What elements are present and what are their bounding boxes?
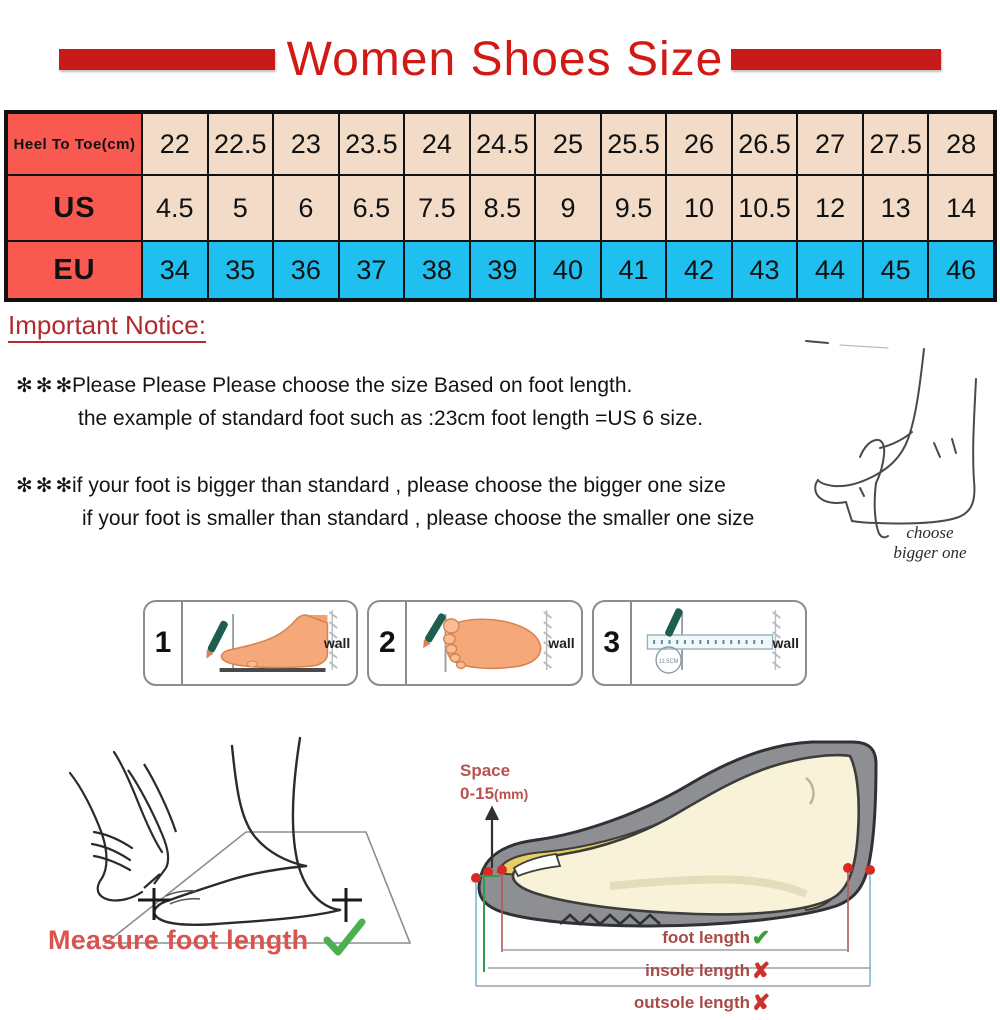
legend-row-foot-length: foot length✔ (612, 922, 772, 955)
cell-us-5: 8.5 (470, 175, 536, 241)
cell-cm-12: 28 (928, 113, 994, 175)
green-check-icon (322, 918, 366, 967)
cell-cm-1: 22.5 (208, 113, 274, 175)
space-label-line1: Space (460, 761, 510, 780)
choose-caption-line1: choose (906, 523, 953, 542)
cell-us-8: 10 (666, 175, 732, 241)
choose-caption-line2: bigger one (893, 543, 966, 562)
cell-eu-5: 39 (470, 241, 536, 299)
cell-eu-0: 34 (142, 241, 208, 299)
cell-us-3: 6.5 (339, 175, 405, 241)
shoe-measurement-legend: foot length✔ insole length✘ outsole leng… (612, 922, 772, 1020)
page-title-row: Women Shoes Size (0, 28, 1000, 90)
cell-us-6: 9 (535, 175, 601, 241)
cell-us-11: 13 (863, 175, 929, 241)
cell-cm-7: 25.5 (601, 113, 667, 175)
cell-cm-0: 22 (142, 113, 208, 175)
step-number-3: 3 (594, 602, 632, 684)
step-panel-2: 2 (367, 600, 582, 686)
cell-cm-2: 23 (273, 113, 339, 175)
cell-eu-10: 44 (797, 241, 863, 299)
check-icon-foot-length: ✔ (750, 922, 772, 955)
cross-icon-insole-length: ✘ (750, 955, 772, 988)
cell-cm-10: 27 (797, 113, 863, 175)
measurement-steps: 1 (143, 600, 807, 686)
cell-eu-9: 43 (732, 241, 798, 299)
cell-cm-8: 26 (666, 113, 732, 175)
step-1-wall-label: wall (324, 635, 350, 651)
cell-eu-3: 37 (339, 241, 405, 299)
row-label-us: US (7, 175, 142, 241)
title-decoration-bar-left (59, 49, 275, 70)
cell-eu-2: 36 (273, 241, 339, 299)
step-1-illustration: wall (183, 602, 356, 684)
step-number-1: 1 (145, 602, 183, 684)
bullet-stars-icon-2: ✻✻✻ (16, 471, 72, 502)
table-row-cm: Heel To Toe(cm) 22 22.5 23 23.5 24 24.5 … (7, 113, 994, 175)
cell-us-2: 6 (273, 175, 339, 241)
shoe-size-chart-page: Women Shoes Size Heel To Toe(cm) 22 22.5… (0, 0, 1000, 1000)
notice-2-line-2: if your foot is smaller than standard , … (16, 503, 754, 536)
cell-eu-8: 42 (666, 241, 732, 299)
legend-label-foot-length: foot length (662, 928, 750, 947)
cross-icon-outsole-length: ✘ (750, 987, 772, 1020)
row-label-heel-to-toe: Heel To Toe(cm) (7, 113, 142, 175)
cell-cm-4: 24 (404, 113, 470, 175)
step-number-2: 2 (369, 602, 407, 684)
step-3-illustration: 11.5CM wall (632, 602, 805, 684)
legend-row-outsole-length: outsole length✘ (612, 987, 772, 1020)
cell-cm-3: 23.5 (339, 113, 405, 175)
cell-cm-9: 26.5 (732, 113, 798, 175)
notice-2-line-1: if your foot is bigger than standard , p… (72, 474, 726, 497)
notice-1-line-2: the example of standard foot such as :23… (16, 403, 703, 436)
important-notice-heading: Important Notice: (8, 312, 206, 343)
notice-1-line-1: Please Please Please choose the size Bas… (72, 374, 632, 397)
size-conversion-table: Heel To Toe(cm) 22 22.5 23 23.5 24 24.5 … (4, 110, 997, 302)
cell-us-7: 9.5 (601, 175, 667, 241)
title-decoration-bar-right (731, 49, 941, 70)
space-label-line2: 0-15 (460, 784, 494, 803)
cell-us-1: 5 (208, 175, 274, 241)
step-panel-3: 3 (592, 600, 807, 686)
table-row-us: US 4.5 5 6 6.5 7.5 8.5 9 9.5 10 10.5 12 … (7, 175, 994, 241)
notice-block-2: ✻✻✻if your foot is bigger than standard … (16, 470, 754, 535)
step-panel-1: 1 (143, 600, 358, 686)
legend-label-outsole-length: outsole length (634, 993, 750, 1012)
cell-cm-11: 27.5 (863, 113, 929, 175)
table-row-eu: EU 34 35 36 37 38 39 40 41 42 43 44 45 4… (7, 241, 994, 299)
space-unit: (mm) (494, 786, 528, 802)
cell-eu-1: 35 (208, 241, 274, 299)
step-2-illustration: wall (407, 602, 580, 684)
measure-foot-length-caption: Measure foot length (48, 925, 308, 956)
legend-row-insole-length: insole length✘ (612, 955, 772, 988)
cell-cm-6: 25 (535, 113, 601, 175)
cell-cm-5: 24.5 (470, 113, 536, 175)
cell-eu-12: 46 (928, 241, 994, 299)
step-3-ruler-badge: 11.5CM (658, 659, 678, 665)
cell-us-0: 4.5 (142, 175, 208, 241)
cell-us-10: 12 (797, 175, 863, 241)
cell-eu-7: 41 (601, 241, 667, 299)
legend-label-insole-length: insole length (645, 961, 750, 980)
cell-eu-6: 40 (535, 241, 601, 299)
step-3-wall-label: wall (773, 635, 799, 651)
bullet-stars-icon: ✻✻✻ (16, 371, 72, 402)
cell-us-4: 7.5 (404, 175, 470, 241)
cell-us-9: 10.5 (732, 175, 798, 241)
cell-eu-4: 38 (404, 241, 470, 299)
page-title: Women Shoes Size (287, 32, 724, 87)
row-label-eu: EU (7, 241, 142, 299)
space-annotation: Space 0-15(mm) (460, 760, 528, 806)
choose-bigger-one-caption: choose bigger one (860, 523, 1000, 562)
notice-block-1: ✻✻✻Please Please Please choose the size … (16, 370, 703, 435)
cell-us-12: 14 (928, 175, 994, 241)
cell-eu-11: 45 (863, 241, 929, 299)
step-2-wall-label: wall (548, 635, 574, 651)
